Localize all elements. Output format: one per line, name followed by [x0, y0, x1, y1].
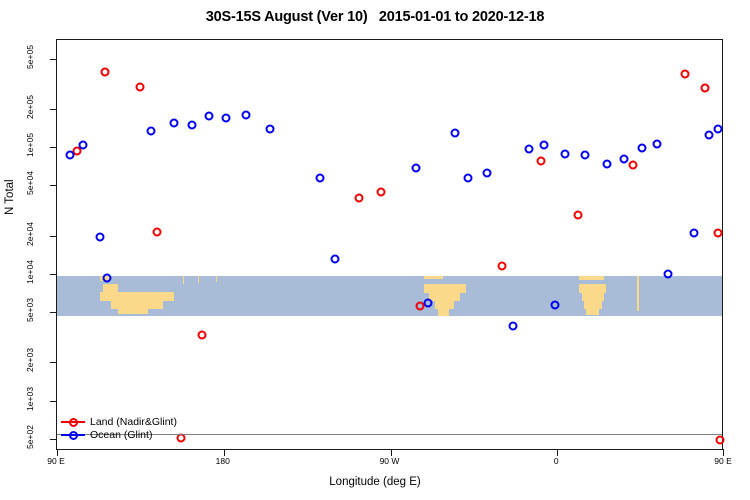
x-tick-label: 90 W — [380, 456, 400, 466]
data-point-ocean — [714, 124, 723, 133]
geography-band — [57, 276, 722, 316]
landmass — [586, 308, 599, 315]
data-point-land — [714, 228, 723, 237]
y-tick — [50, 59, 57, 60]
legend: Land (Nadir&Glint) Ocean (Glint) — [56, 413, 182, 443]
x-tick-label: 180 — [216, 456, 230, 466]
data-point-ocean — [525, 145, 534, 154]
data-point-ocean — [664, 270, 673, 279]
x-tick — [224, 449, 225, 456]
x-tick — [723, 449, 724, 456]
ocean-marker-icon — [61, 429, 85, 440]
data-point-ocean — [103, 274, 112, 283]
data-point-ocean — [65, 151, 74, 160]
data-point-ocean — [482, 169, 491, 178]
data-point-ocean — [95, 233, 104, 242]
y-tick-label: 5e+05 — [25, 37, 35, 77]
data-point-land — [681, 70, 690, 79]
landmass — [438, 308, 449, 316]
x-axis-label: Longitude (deg E) — [0, 476, 750, 488]
x-tick-label: 0 — [554, 456, 559, 466]
data-point-ocean — [690, 228, 699, 237]
y-tick — [50, 109, 57, 110]
data-point-land — [136, 82, 145, 91]
data-point-land — [716, 435, 725, 444]
data-point-ocean — [451, 128, 460, 137]
x-tick-label: 90 E — [714, 456, 732, 466]
chart-title: 30S-15S August (Ver 10) 2015-01-01 to 20… — [0, 9, 750, 25]
y-tick — [50, 236, 57, 237]
y-tick — [50, 401, 57, 402]
data-point-ocean — [169, 118, 178, 127]
x-tick — [557, 449, 558, 456]
legend-label-ocean: Ocean (Glint) — [90, 429, 152, 441]
legend-label-land: Land (Nadir&Glint) — [90, 416, 177, 428]
data-point-ocean — [653, 139, 662, 148]
y-tick-label: 1e+04 — [25, 252, 35, 292]
x-tick-label: 90 E — [47, 456, 65, 466]
landmass — [579, 276, 603, 280]
plot-area — [56, 39, 723, 450]
y-tick — [50, 312, 57, 313]
data-point-land — [536, 156, 545, 165]
y-tick-label: 2e+03 — [25, 340, 35, 380]
y-tick — [50, 274, 57, 275]
data-point-ocean — [508, 321, 517, 330]
data-point-land — [101, 68, 110, 77]
legend-item-land[interactable]: Land (Nadir&Glint) — [61, 415, 177, 428]
data-point-ocean — [221, 113, 230, 122]
y-tick-label: 5e+04 — [25, 163, 35, 203]
data-point-ocean — [188, 120, 197, 129]
data-point-land — [197, 330, 206, 339]
landmass — [198, 276, 199, 283]
data-point-ocean — [540, 140, 549, 149]
data-point-ocean — [560, 150, 569, 159]
data-point-land — [153, 227, 162, 236]
data-point-land — [701, 83, 710, 92]
land-marker-icon — [61, 416, 85, 427]
data-point-ocean — [412, 164, 421, 173]
data-point-ocean — [241, 110, 250, 119]
data-point-ocean — [423, 298, 432, 307]
data-point-ocean — [464, 174, 473, 183]
data-point-ocean — [316, 174, 325, 183]
chart-root: 30S-15S August (Ver 10) 2015-01-01 to 20… — [0, 0, 750, 500]
y-tick-label: 5e+02 — [25, 417, 35, 457]
legend-item-ocean[interactable]: Ocean (Glint) — [61, 428, 177, 441]
data-point-ocean — [147, 127, 156, 136]
y-tick — [50, 185, 57, 186]
data-point-ocean — [638, 144, 647, 153]
landmass — [183, 276, 184, 284]
data-point-ocean — [551, 300, 560, 309]
data-point-land — [377, 188, 386, 197]
data-point-ocean — [603, 160, 612, 169]
landmass — [216, 276, 217, 282]
landmass — [637, 276, 639, 311]
data-point-ocean — [581, 150, 590, 159]
data-point-land — [573, 211, 582, 220]
landmass — [103, 284, 118, 292]
data-point-land — [355, 193, 364, 202]
data-point-land — [629, 161, 638, 170]
landmass — [424, 276, 443, 279]
data-point-ocean — [705, 130, 714, 139]
data-point-ocean — [619, 155, 628, 164]
x-tick — [57, 449, 58, 456]
data-point-ocean — [204, 112, 213, 121]
y-tick — [50, 362, 57, 363]
data-point-ocean — [266, 124, 275, 133]
y-tick-label: 2e+04 — [25, 214, 35, 254]
x-tick — [391, 449, 392, 456]
data-point-land — [497, 262, 506, 271]
y-tick-label: 5e+03 — [25, 290, 35, 330]
data-point-ocean — [78, 141, 87, 150]
landmass — [118, 308, 148, 314]
y-tick-label: 1e+05 — [25, 125, 35, 165]
data-point-ocean — [330, 255, 339, 264]
y-tick-label: 1e+03 — [25, 379, 35, 419]
y-tick-label: 2e+05 — [25, 87, 35, 127]
y-tick — [50, 147, 57, 148]
y-axis-label: N Total — [4, 179, 16, 215]
